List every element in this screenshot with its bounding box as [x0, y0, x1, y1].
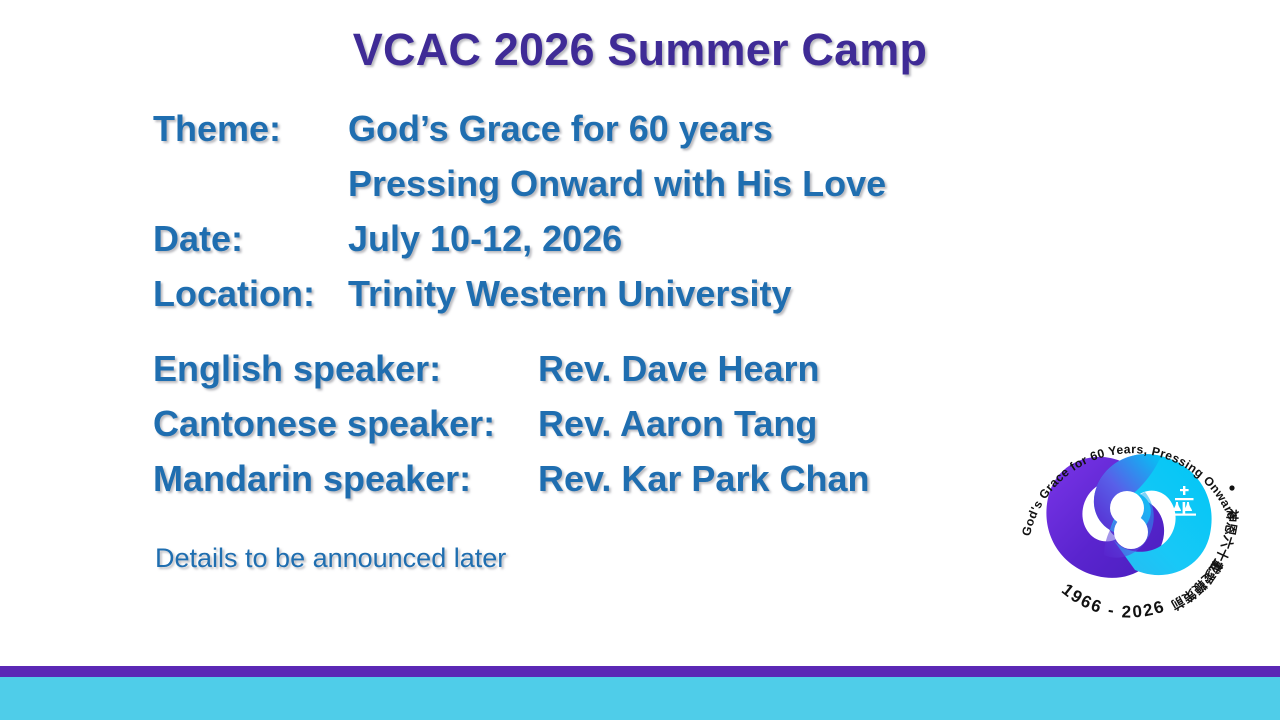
info-value-location: Trinity Western University — [348, 273, 791, 315]
speaker-name-english: Rev. Dave Hearn — [538, 348, 819, 390]
info-row-date: Date: July 10-12, 2026 — [153, 218, 983, 273]
speaker-name-mandarin: Rev. Kar Park Chan — [538, 458, 869, 500]
info-value-theme-line1: God’s Grace for 60 years — [348, 108, 773, 150]
speaker-row-cantonese: Cantonese speaker: Rev. Aaron Tang — [153, 403, 983, 458]
footnote-text: Details to be announced later — [155, 543, 506, 574]
speaker-row-mandarin: Mandarin speaker: Rev. Kar Park Chan — [153, 458, 983, 513]
speaker-name-cantonese: Rev. Aaron Tang — [538, 403, 817, 445]
info-row-theme-line2: Pressing Onward with His Love — [153, 163, 983, 218]
logo-ring-text-years: 1966 - 2026 — [1058, 580, 1168, 622]
footer-bar-purple — [0, 666, 1280, 677]
info-row-location: Location: Trinity Western University — [153, 273, 983, 328]
presentation-slide: VCAC 2026 Summer Camp Theme: God’s Grace… — [0, 0, 1280, 720]
footer-bar-cyan — [0, 677, 1280, 720]
speaker-label-english: English speaker: — [153, 348, 538, 390]
speaker-row-english: English speaker: Rev. Dave Hearn — [153, 348, 983, 403]
info-value-date: July 10-12, 2026 — [348, 218, 622, 260]
anniversary-logo: God's Grace for 60 Years, Pressing Onwar… — [1005, 392, 1253, 640]
logo-separator-dot — [1229, 485, 1234, 490]
page-title: VCAC 2026 Summer Camp — [0, 24, 1280, 76]
info-label-location: Location: — [153, 273, 348, 315]
speaker-label-mandarin: Mandarin speaker: — [153, 458, 538, 500]
info-label-date: Date: — [153, 218, 348, 260]
info-row-theme: Theme: God’s Grace for 60 years — [153, 108, 983, 163]
info-value-theme-line2: Pressing Onward with His Love — [348, 163, 886, 205]
speaker-block: English speaker: Rev. Dave Hearn Cantone… — [153, 348, 983, 513]
info-label-theme: Theme: — [153, 108, 348, 150]
event-info-block: Theme: God’s Grace for 60 years Pressing… — [153, 108, 983, 328]
speaker-label-cantonese: Cantonese speaker: — [153, 403, 538, 445]
logo-counter-lower — [1114, 515, 1148, 549]
